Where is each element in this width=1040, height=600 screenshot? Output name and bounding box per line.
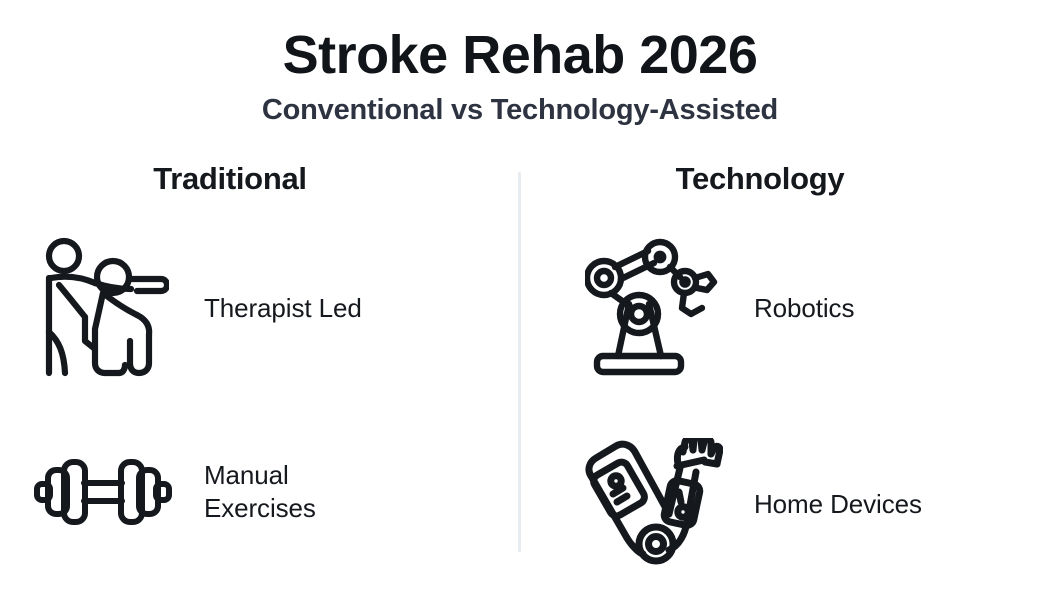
list-item-label: Manual Exercises	[204, 459, 316, 526]
list-item: Home Devices	[578, 429, 1040, 579]
list-item: Therapist Led	[28, 233, 510, 383]
list-item-label: Home Devices	[754, 488, 922, 521]
list-item: Manual Exercises	[28, 437, 510, 547]
column-traditional: Traditional	[0, 160, 510, 547]
list-item-label: Robotics	[754, 292, 854, 325]
list-item: Robotics	[578, 233, 1040, 383]
slide-canvas: Stroke Rehab 2026 Conventional vs Techno…	[0, 0, 1040, 600]
column-heading-technology: Technology	[550, 160, 970, 197]
list-item-label: Therapist Led	[204, 292, 362, 325]
page-subtitle: Conventional vs Technology-Assisted	[0, 94, 1040, 127]
slide-header: Stroke Rehab 2026 Conventional vs Techno…	[0, 26, 1040, 128]
robotic-prosthetic-arm-icon	[578, 429, 728, 579]
comparison-columns: Traditional	[0, 160, 1040, 580]
page-title: Stroke Rehab 2026	[0, 26, 1040, 84]
dumbbell-icon	[28, 437, 178, 547]
column-heading-traditional: Traditional	[20, 160, 440, 197]
robot-arm-icon	[578, 233, 728, 383]
therapist-assisting-patient-icon	[28, 233, 178, 383]
column-technology: Technology	[510, 160, 1040, 579]
